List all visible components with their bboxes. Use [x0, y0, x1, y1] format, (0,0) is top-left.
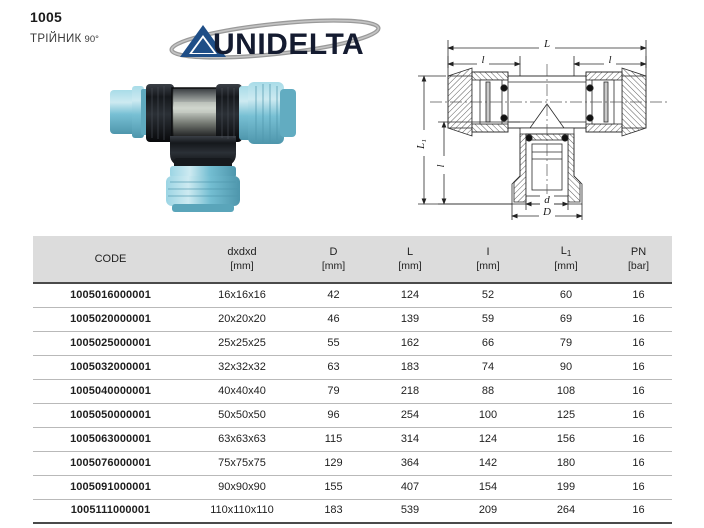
- cell-I: 88: [449, 379, 527, 403]
- product-type-label: ТРІЙНИК: [30, 33, 82, 45]
- cell-PN: 16: [605, 283, 672, 307]
- spec-table-body: 100501600000116x16x164212452601610050200…: [33, 283, 672, 523]
- spec-table: CODE dxdxd [mm] D [mm] L [mm]: [33, 236, 672, 524]
- dimension-label-d: d: [544, 194, 550, 206]
- cell-D: 79: [296, 379, 371, 403]
- col-header-I: I [mm]: [449, 236, 527, 283]
- right-compression-nut: [239, 82, 296, 144]
- cell-dxdxd: 63x63x63: [188, 427, 296, 451]
- datasheet-page: 1005 ТРІЙНИК 90° UNIDELTA: [0, 0, 704, 528]
- table-row: 100503200000132x32x3263183749016: [33, 355, 672, 379]
- cell-L: 407: [371, 475, 449, 499]
- cell-L1: 79: [527, 331, 605, 355]
- cell-PN: 16: [605, 379, 672, 403]
- table-row: 100509100000190x90x9015540715419916: [33, 475, 672, 499]
- cell-code: 1005076000001: [33, 451, 188, 475]
- cell-dxdxd: 25x25x25: [188, 331, 296, 355]
- cell-code: 1005032000001: [33, 355, 188, 379]
- logo-wordmark: UNIDELTA: [213, 28, 364, 61]
- cell-I: 59: [449, 307, 527, 331]
- cell-L1: 264: [527, 499, 605, 523]
- product-subtitle: ТРІЙНИК 90°: [30, 33, 99, 45]
- cell-L: 254: [371, 403, 449, 427]
- brand-logo: UNIDELTA: [163, 18, 393, 64]
- col-header-PN: PN [bar]: [605, 236, 672, 283]
- cell-D: 46: [296, 307, 371, 331]
- cell-PN: 16: [605, 307, 672, 331]
- col-header-L1: L1 [mm]: [527, 236, 605, 283]
- cell-L1: 156: [527, 427, 605, 451]
- dimension-label-D: D: [542, 206, 551, 218]
- cell-I: 100: [449, 403, 527, 427]
- cell-D: 42: [296, 283, 371, 307]
- cell-I: 124: [449, 427, 527, 451]
- cell-D: 63: [296, 355, 371, 379]
- dimension-label-l-branch: l: [435, 164, 447, 167]
- cell-code: 1005025000001: [33, 331, 188, 355]
- cell-code: 1005016000001: [33, 283, 188, 307]
- cell-I: 154: [449, 475, 527, 499]
- cell-PN: 16: [605, 499, 672, 523]
- col-header-code: CODE: [33, 236, 188, 283]
- cell-I: 74: [449, 355, 527, 379]
- col-header-D: D [mm]: [296, 236, 371, 283]
- cell-dxdxd: 40x40x40: [188, 379, 296, 403]
- cell-I: 209: [449, 499, 527, 523]
- cell-dxdxd: 90x90x90: [188, 475, 296, 499]
- cell-L: 183: [371, 355, 449, 379]
- technical-drawing: L l l L₁ l d D: [416, 26, 688, 222]
- dimension-label-L: L: [543, 38, 550, 50]
- dimension-label-L1: L₁: [416, 139, 427, 150]
- cell-I: 52: [449, 283, 527, 307]
- table-row: 100501600000116x16x1642124526016: [33, 283, 672, 307]
- table-row: 100504000000140x40x40792188810816: [33, 379, 672, 403]
- fitting-body: [146, 84, 242, 174]
- technical-drawing-svg: L l l L₁ l d D: [416, 26, 688, 222]
- spec-table-container: CODE dxdxd [mm] D [mm] L [mm]: [33, 236, 672, 524]
- product-photo-svg: [108, 62, 323, 212]
- cell-L1: 199: [527, 475, 605, 499]
- cell-D: 96: [296, 403, 371, 427]
- col-header-dxdxd: dxdxd [mm]: [188, 236, 296, 283]
- table-row: 100502500000125x25x2555162667916: [33, 331, 672, 355]
- cell-code: 1005091000001: [33, 475, 188, 499]
- table-row: 100506300000163x63x6311531412415616: [33, 427, 672, 451]
- cell-PN: 16: [605, 403, 672, 427]
- cell-PN: 16: [605, 355, 672, 379]
- col-header-L: L [mm]: [371, 236, 449, 283]
- cell-L1: 180: [527, 451, 605, 475]
- cell-PN: 16: [605, 451, 672, 475]
- table-row: 1005111000001110x110x11018353920926416: [33, 499, 672, 523]
- cell-L1: 90: [527, 355, 605, 379]
- cell-dxdxd: 20x20x20: [188, 307, 296, 331]
- cell-L: 539: [371, 499, 449, 523]
- cell-D: 55: [296, 331, 371, 355]
- cell-D: 183: [296, 499, 371, 523]
- table-row: 100502000000120x20x2046139596916: [33, 307, 672, 331]
- cell-L1: 125: [527, 403, 605, 427]
- cell-D: 155: [296, 475, 371, 499]
- cell-L: 364: [371, 451, 449, 475]
- cell-PN: 16: [605, 427, 672, 451]
- header-block: 1005 ТРІЙНИК 90°: [30, 8, 99, 45]
- cell-L1: 108: [527, 379, 605, 403]
- cell-code: 1005020000001: [33, 307, 188, 331]
- cell-L: 218: [371, 379, 449, 403]
- spec-table-head: CODE dxdxd [mm] D [mm] L [mm]: [33, 236, 672, 283]
- cell-code: 1005050000001: [33, 403, 188, 427]
- cell-dxdxd: 32x32x32: [188, 355, 296, 379]
- cell-dxdxd: 50x50x50: [188, 403, 296, 427]
- product-photo: [108, 62, 323, 212]
- left-compression-nut: [110, 86, 149, 138]
- cell-L1: 69: [527, 307, 605, 331]
- bottom-compression-nut: [166, 166, 240, 212]
- cell-dxdxd: 110x110x110: [188, 499, 296, 523]
- cell-code: 1005111000001: [33, 499, 188, 523]
- cell-L: 124: [371, 283, 449, 307]
- cell-code: 1005040000001: [33, 379, 188, 403]
- dimension-label-l-right: l: [608, 54, 611, 66]
- cell-L: 162: [371, 331, 449, 355]
- dimension-l-branch: [438, 122, 520, 204]
- table-row: 100505000000150x50x509625410012516: [33, 403, 672, 427]
- cell-I: 142: [449, 451, 527, 475]
- cell-D: 115: [296, 427, 371, 451]
- dimension-label-l-left: l: [481, 54, 484, 66]
- cell-L: 314: [371, 427, 449, 451]
- logo-svg: UNIDELTA: [163, 18, 393, 64]
- cell-PN: 16: [605, 475, 672, 499]
- cell-PN: 16: [605, 331, 672, 355]
- cell-I: 66: [449, 331, 527, 355]
- table-row: 100507600000175x75x7512936414218016: [33, 451, 672, 475]
- cell-code: 1005063000001: [33, 427, 188, 451]
- cell-L1: 60: [527, 283, 605, 307]
- page-title: 1005: [30, 8, 99, 26]
- cell-D: 129: [296, 451, 371, 475]
- cell-dxdxd: 75x75x75: [188, 451, 296, 475]
- cell-dxdxd: 16x16x16: [188, 283, 296, 307]
- cell-L: 139: [371, 307, 449, 331]
- product-angle-label: 90°: [85, 34, 99, 45]
